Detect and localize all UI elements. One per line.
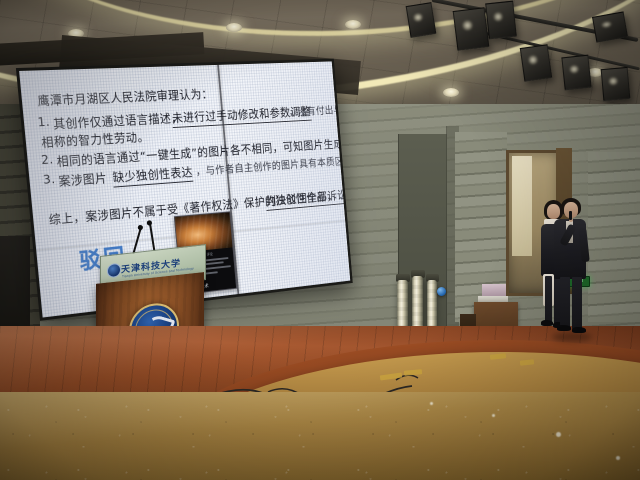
speaker-front [552, 198, 592, 338]
university-logo-icon [107, 263, 121, 279]
slide-point-2-num: 2. [40, 151, 54, 167]
pillar-badge-icon [437, 287, 446, 296]
stage-light-fixture [561, 55, 591, 91]
stage-light-fixture [485, 1, 517, 40]
door-light-panel [512, 156, 532, 256]
slide-point-1-num: 1. [37, 114, 51, 129]
stage-light-fixture [592, 11, 628, 42]
leg [560, 277, 570, 329]
ceiling-downlight [345, 20, 361, 29]
leg [545, 276, 552, 324]
ceiling-downlight [226, 23, 242, 32]
floor-gloss [0, 392, 640, 480]
floor-highlight [556, 432, 561, 437]
storage-box [482, 284, 506, 296]
wall-slat-panel [588, 152, 640, 322]
stage-light-fixture [601, 67, 631, 101]
shoe [557, 325, 571, 331]
stage-light-fixture [406, 2, 437, 38]
floor-highlight [430, 402, 433, 405]
person-shadow [552, 332, 592, 342]
leg [572, 277, 582, 329]
lecture-hall-photo: EXIT 消防 [0, 0, 640, 480]
audience-floor [0, 392, 640, 480]
slide-point-3-main: 案涉图片 [58, 168, 108, 190]
stage-light-fixture [453, 7, 490, 51]
stage-light-fixture [520, 44, 552, 82]
ceiling-downlight [443, 88, 459, 97]
floor-highlight [616, 456, 620, 460]
slide-point-3-num: 3. [42, 171, 56, 187]
news-ui-comment: 评论 [207, 252, 213, 257]
floor-highlight [492, 414, 495, 417]
handheld-microphone[interactable] [569, 211, 572, 220]
